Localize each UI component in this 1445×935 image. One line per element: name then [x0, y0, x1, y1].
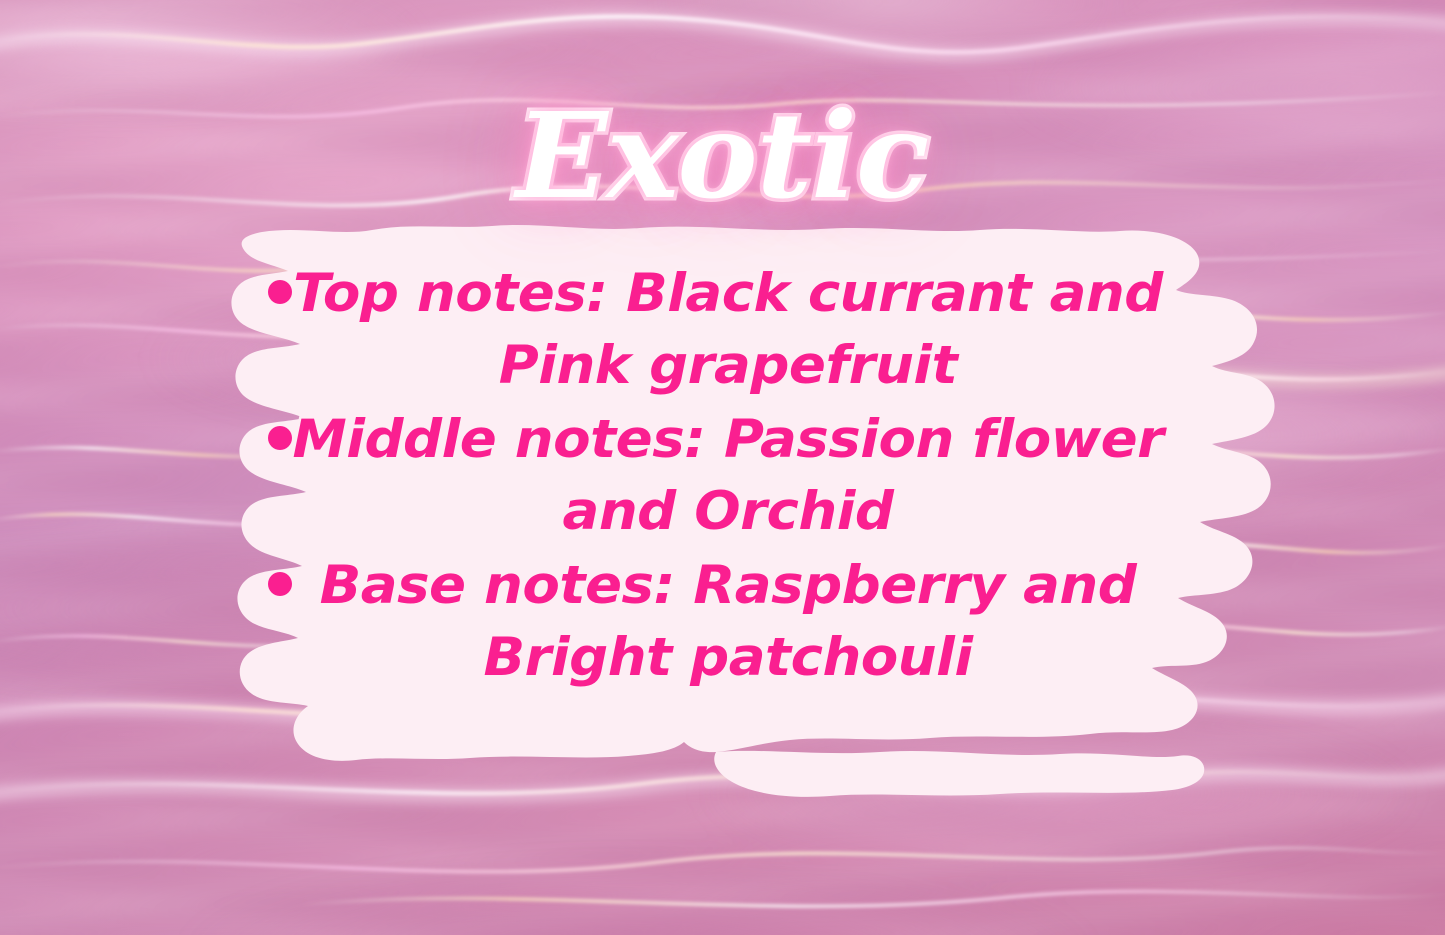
list-item: Middle notes: Passion flower and Orchid	[0, 404, 1445, 548]
note-text-middle: Middle notes: Passion flower and Orchid	[234, 404, 1223, 548]
fragrance-notes-poster: Exotic Top notes: Black currant and Pink…	[0, 0, 1445, 935]
note-text-base: Base notes: Raspberry and Bright patchou…	[234, 550, 1223, 694]
list-item: Base notes: Raspberry and Bright patchou…	[0, 550, 1445, 694]
list-item: Top notes: Black currant and Pink grapef…	[0, 258, 1445, 402]
note-text-top: Top notes: Black currant and Pink grapef…	[234, 258, 1223, 402]
fragrance-notes-list: Top notes: Black currant and Pink grapef…	[0, 258, 1445, 694]
